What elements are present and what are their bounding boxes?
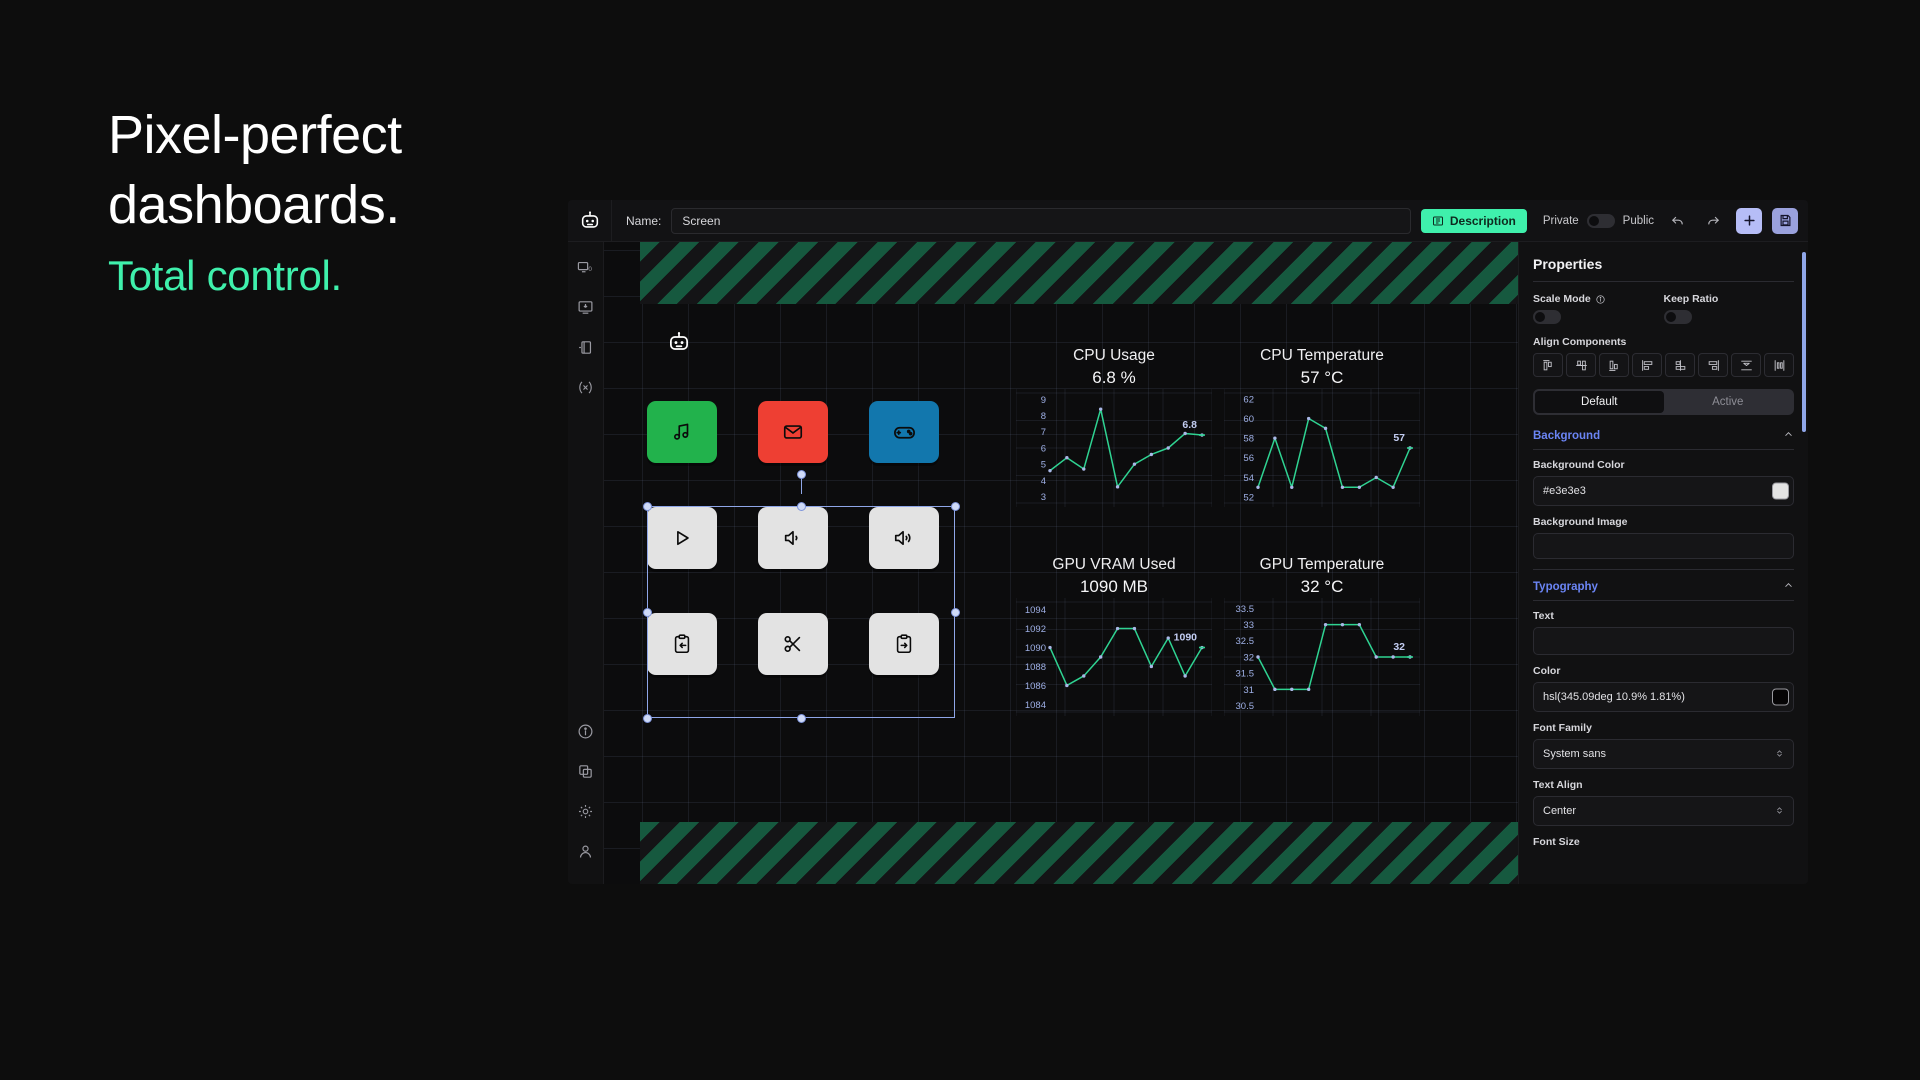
svg-text:3: 3 [1041, 492, 1046, 503]
undo-button[interactable] [1664, 208, 1690, 234]
background-color-swatch[interactable] [1772, 483, 1789, 500]
properties-panel: Properties Scale Mode Keep Ratio [1518, 242, 1808, 884]
add-button[interactable] [1736, 208, 1762, 234]
text-label: Text [1533, 610, 1794, 622]
handle-bottom-center[interactable] [797, 714, 806, 723]
divider [1533, 449, 1794, 450]
svg-text:1090: 1090 [1025, 643, 1046, 654]
redo-button[interactable] [1700, 208, 1726, 234]
panel-icon [1432, 215, 1444, 227]
handle-top-right[interactable] [951, 502, 960, 511]
svg-text:60: 60 [1243, 414, 1254, 425]
svg-text:1090: 1090 [1174, 632, 1198, 644]
text-color-input[interactable]: hsl(345.09deg 10.9% 1.81%) [1533, 682, 1794, 712]
svg-text:32.5: 32.5 [1236, 636, 1255, 647]
chart-plot: 52545658606257 [1224, 389, 1420, 507]
divider [1533, 600, 1794, 601]
selection-bounding-box[interactable] [647, 506, 955, 718]
design-canvas[interactable]: CPU Usage 6.8 % 34567896.8 CPU Temperatu… [604, 242, 1518, 884]
svg-text:54: 54 [1243, 473, 1254, 484]
distribute-h-icon [1773, 359, 1786, 372]
chart-title: CPU Usage [1016, 345, 1212, 366]
user-icon [577, 843, 594, 860]
align-toolbar [1533, 353, 1794, 377]
align-left-icon [1641, 359, 1654, 372]
properties-scrollbar[interactable] [1802, 252, 1806, 432]
state-segmented-control[interactable]: Default Active [1533, 389, 1794, 415]
align-right-button[interactable] [1698, 353, 1728, 377]
screens-icon: 0 [577, 259, 594, 276]
background-color-input[interactable]: #e3e3e3 [1533, 476, 1794, 506]
text-textarea[interactable] [1533, 627, 1794, 655]
svg-text:1088: 1088 [1025, 662, 1046, 673]
typography-section-title: Typography [1533, 581, 1598, 593]
typography-section-header[interactable]: Typography [1533, 580, 1794, 594]
align-hcenter-button[interactable] [1665, 353, 1695, 377]
align-top-icon [1542, 359, 1555, 372]
sidebar-item-screens[interactable]: 0 [573, 254, 599, 280]
properties-title: Properties [1533, 256, 1794, 272]
hero-text: Pixel-perfect dashboards. Total control. [108, 100, 568, 306]
sidebar-item-copy[interactable] [573, 758, 599, 784]
keep-ratio-label: Keep Ratio [1664, 293, 1795, 305]
hero-line-2: dashboards. [108, 170, 568, 240]
app-toolbar: Name: Screen Description Private Public [568, 200, 1808, 242]
chart-plot: 30.53131.53232.53333.532 [1224, 598, 1420, 716]
align-hcenter-icon [1674, 359, 1687, 372]
distribute-v-icon [1740, 359, 1753, 372]
svg-text:32: 32 [1393, 641, 1405, 653]
text-color-value: hsl(345.09deg 10.9% 1.81%) [1543, 691, 1685, 703]
svg-text:9: 9 [1041, 395, 1046, 406]
svg-text:8: 8 [1041, 411, 1046, 422]
svg-text:1094: 1094 [1025, 605, 1046, 616]
svg-text:52: 52 [1243, 493, 1254, 504]
align-left-button[interactable] [1632, 353, 1662, 377]
redo-icon [1706, 213, 1721, 228]
svg-text:33: 33 [1243, 620, 1254, 631]
font-family-label: Font Family [1533, 722, 1794, 734]
align-vcenter-icon [1575, 359, 1588, 372]
description-label: Description [1450, 214, 1516, 228]
copy-icon [577, 763, 594, 780]
svg-text:31: 31 [1243, 685, 1254, 696]
canvas-button-gamepad[interactable] [869, 401, 939, 463]
save-button[interactable] [1772, 208, 1798, 234]
screen-name-input[interactable]: Screen [671, 208, 1411, 234]
hero-accent-line: Total control. [108, 246, 568, 306]
svg-text:1092: 1092 [1025, 624, 1046, 635]
left-rail: 0 [568, 242, 604, 884]
canvas-robot-icon [666, 330, 692, 356]
chevron-up-icon [1783, 429, 1794, 443]
background-color-value: #e3e3e3 [1543, 485, 1586, 497]
chart-value: 6.8 % [1016, 366, 1212, 389]
sidebar-item-page[interactable] [573, 334, 599, 360]
chart-value: 1090 MB [1016, 575, 1212, 598]
text-align-label: Text Align [1533, 779, 1794, 791]
chart-title: GPU Temperature [1224, 554, 1420, 575]
background-image-label: Background Image [1533, 516, 1794, 528]
handle-top-center[interactable] [797, 502, 806, 511]
handle-top-left[interactable] [643, 502, 652, 511]
visibility-toggle[interactable] [1587, 214, 1615, 228]
save-icon [1778, 213, 1793, 228]
svg-text:32: 32 [1243, 652, 1254, 663]
tab-default[interactable]: Default [1535, 391, 1664, 413]
sidebar-item-info[interactable] [573, 718, 599, 744]
keep-ratio-toggle[interactable] [1664, 310, 1692, 324]
scale-mode-toggle[interactable] [1533, 310, 1561, 324]
svg-text:1086: 1086 [1025, 681, 1046, 692]
undo-icon [1670, 213, 1685, 228]
toggles-row: Scale Mode Keep Ratio [1533, 293, 1794, 324]
music-icon [671, 421, 693, 443]
chart-title: CPU Temperature [1224, 345, 1420, 366]
handle-mid-right[interactable] [951, 608, 960, 617]
svg-text:33.5: 33.5 [1236, 604, 1255, 615]
font-family-value: System sans [1543, 748, 1606, 760]
canvas-button-mail[interactable] [758, 401, 828, 463]
divider [1533, 281, 1794, 282]
svg-text:4: 4 [1041, 476, 1046, 487]
tab-active[interactable]: Active [1664, 391, 1793, 413]
chart-gpu-vram: GPU VRAM Used 1090 MB 108410861088109010… [1016, 554, 1212, 716]
font-size-label: Font Size [1533, 836, 1794, 848]
svg-text:30.5: 30.5 [1236, 701, 1255, 712]
variables-icon [577, 379, 594, 396]
handle-mid-left[interactable] [643, 608, 652, 617]
chevron-up-icon [1783, 580, 1794, 594]
chart-gpu-temperature: GPU Temperature 32 °C 30.53131.53232.533… [1224, 554, 1420, 716]
align-bottom-button[interactable] [1599, 353, 1629, 377]
app-body: 0 [568, 242, 1808, 884]
text-align-value: Center [1543, 805, 1576, 817]
font-family-select[interactable]: System sans [1533, 739, 1794, 769]
chevron-updown-icon [1775, 747, 1784, 762]
handle-bottom-left[interactable] [643, 714, 652, 723]
chevron-updown-icon [1775, 804, 1784, 819]
private-label: Private [1543, 215, 1579, 227]
background-section-title: Background [1533, 430, 1600, 442]
plus-icon [1742, 213, 1757, 228]
scale-mode-label: Scale Mode [1533, 293, 1591, 305]
mail-icon [782, 421, 804, 443]
svg-text:62: 62 [1243, 394, 1254, 405]
page-icon [577, 339, 594, 356]
text-color-label: Color [1533, 665, 1794, 677]
svg-text:58: 58 [1243, 434, 1254, 445]
align-top-button[interactable] [1533, 353, 1563, 377]
stripe-band-bottom [640, 822, 1518, 884]
stripe-band-top [640, 242, 1518, 304]
gamepad-icon [893, 421, 916, 444]
sidebar-item-account[interactable] [573, 838, 599, 864]
app-logo[interactable] [568, 200, 612, 242]
svg-text:6.8: 6.8 [1182, 419, 1197, 431]
chart-cpu-usage: CPU Usage 6.8 % 34567896.8 [1016, 345, 1212, 507]
app-window: Name: Screen Description Private Public [568, 200, 1808, 884]
background-image-input[interactable] [1533, 533, 1794, 559]
public-label: Public [1623, 215, 1654, 227]
sidebar-item-download-screen[interactable] [573, 294, 599, 320]
info-icon [577, 723, 594, 740]
hero-line-1: Pixel-perfect [108, 100, 568, 170]
svg-text:6: 6 [1041, 443, 1046, 454]
distribute-vertical-button[interactable] [1731, 353, 1761, 377]
robot-icon [579, 210, 601, 232]
chart-value: 32 °C [1224, 575, 1420, 598]
align-right-icon [1707, 359, 1720, 372]
divider [1533, 569, 1794, 570]
chart-title: GPU VRAM Used [1016, 554, 1212, 575]
description-button[interactable]: Description [1421, 209, 1527, 233]
sidebar-item-settings[interactable] [573, 798, 599, 824]
svg-text:0: 0 [588, 266, 592, 273]
chart-plot: 1084108610881090109210941090 [1016, 598, 1212, 716]
align-components-label: Align Components [1533, 336, 1794, 348]
align-bottom-icon [1608, 359, 1621, 372]
svg-text:56: 56 [1243, 453, 1254, 464]
chart-value: 57 °C [1224, 366, 1420, 389]
svg-text:31.5: 31.5 [1236, 669, 1255, 680]
name-label: Name: [626, 214, 661, 228]
canvas-button-music[interactable] [647, 401, 717, 463]
chart-plot: 34567896.8 [1016, 389, 1212, 507]
download-screen-icon [577, 299, 594, 316]
background-color-label: Background Color [1533, 459, 1794, 471]
gear-icon [577, 803, 594, 820]
text-align-select[interactable]: Center [1533, 796, 1794, 826]
svg-text:57: 57 [1393, 432, 1405, 444]
info-icon [1596, 295, 1605, 304]
svg-text:1084: 1084 [1025, 700, 1046, 711]
sidebar-item-variables[interactable] [573, 374, 599, 400]
align-vcenter-button[interactable] [1566, 353, 1596, 377]
rotation-handle[interactable] [797, 470, 806, 479]
svg-text:5: 5 [1041, 460, 1046, 471]
text-color-swatch[interactable] [1772, 689, 1789, 706]
chart-cpu-temperature: CPU Temperature 57 °C 52545658606257 [1224, 345, 1420, 507]
background-section-header[interactable]: Background [1533, 429, 1794, 443]
distribute-horizontal-button[interactable] [1764, 353, 1794, 377]
svg-text:7: 7 [1041, 427, 1046, 438]
